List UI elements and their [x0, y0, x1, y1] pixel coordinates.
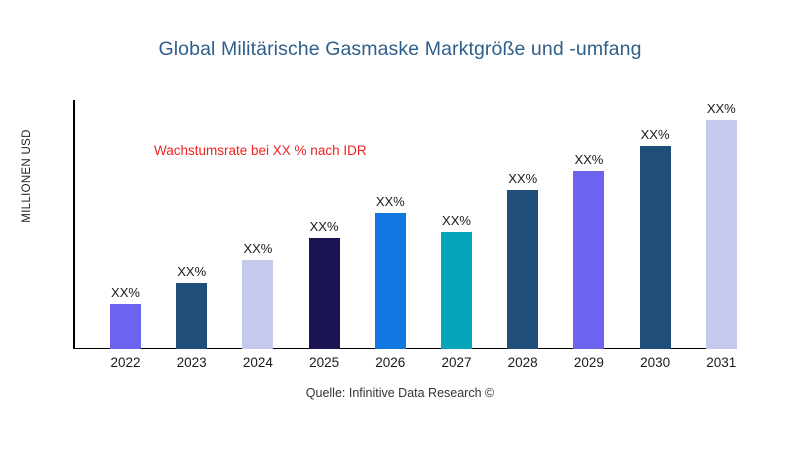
bar-2028[interactable]	[507, 190, 538, 349]
chart-title: Global Militärische Gasmaske Marktgröße …	[0, 38, 800, 61]
x-tick-label-2031: 2031	[691, 355, 751, 370]
bar-group: XX%	[706, 100, 737, 349]
bar-2030[interactable]	[640, 146, 671, 349]
bar-value-label-2030: XX%	[641, 127, 670, 142]
bar-2022[interactable]	[110, 304, 141, 349]
bar-group: XX%	[507, 100, 538, 349]
source-caption: Quelle: Infinitive Data Research ©	[0, 386, 800, 400]
plot-area: XX%XX%XX%XX%XX%XX%XX%XX%XX%XX%	[73, 100, 800, 349]
bar-2026[interactable]	[375, 213, 406, 349]
bar-2027[interactable]	[441, 232, 472, 349]
bar-value-label-2028: XX%	[508, 171, 537, 186]
bar-chart: Global Militärische Gasmaske Marktgröße …	[0, 0, 800, 450]
bar-2024[interactable]	[242, 260, 273, 349]
bar-2025[interactable]	[309, 238, 340, 349]
x-tick-label-2030: 2030	[625, 355, 685, 370]
bar-group: XX%	[441, 100, 472, 349]
x-tick-label-2028: 2028	[493, 355, 553, 370]
bar-2029[interactable]	[573, 171, 604, 349]
bar-group: XX%	[640, 100, 671, 349]
bar-group: XX%	[309, 100, 340, 349]
bar-value-label-2031: XX%	[707, 101, 736, 116]
x-tick-label-2023: 2023	[162, 355, 222, 370]
x-tick-label-2029: 2029	[559, 355, 619, 370]
x-tick-label-2024: 2024	[228, 355, 288, 370]
bar-value-label-2027: XX%	[442, 213, 471, 228]
x-axis-tick-labels: 2022202320242025202620272028202920302031	[73, 355, 800, 377]
x-tick-label-2022: 2022	[96, 355, 156, 370]
bar-value-label-2026: XX%	[376, 194, 405, 209]
bar-value-label-2023: XX%	[177, 264, 206, 279]
x-tick-label-2026: 2026	[360, 355, 420, 370]
bar-value-label-2022: XX%	[111, 285, 140, 300]
x-tick-label-2025: 2025	[294, 355, 354, 370]
bar-value-label-2025: XX%	[310, 219, 339, 234]
bar-group: XX%	[110, 100, 141, 349]
bar-group: XX%	[242, 100, 273, 349]
bar-group: XX%	[375, 100, 406, 349]
bar-2031[interactable]	[706, 120, 737, 349]
y-axis-label: MILLIONEN USD	[21, 86, 33, 266]
bar-value-label-2024: XX%	[243, 241, 272, 256]
bar-2023[interactable]	[176, 283, 207, 349]
bar-group: XX%	[573, 100, 604, 349]
bar-group: XX%	[176, 100, 207, 349]
bar-value-label-2029: XX%	[574, 152, 603, 167]
x-tick-label-2027: 2027	[427, 355, 487, 370]
